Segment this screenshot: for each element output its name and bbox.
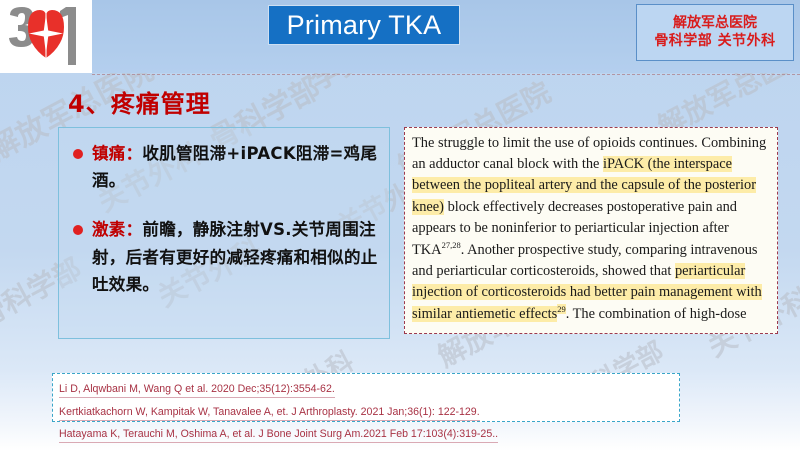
reference-item: Hatayama K, Terauchi M, Oshima A, et al.…	[59, 427, 498, 443]
list-item: 镇痛：收肌管阻滞+iPACK阻滞=鸡尾酒。	[69, 140, 379, 194]
reference-row: Li D, Alqwbani M, Wang Q et al. 2020 Dec…	[59, 377, 675, 400]
quote-segment-7: . The combination of high-dose	[566, 306, 747, 322]
bullet-dot-icon	[73, 149, 83, 159]
quotation-text: The struggle to limit the use of opioids…	[412, 133, 770, 325]
quote-segment-6: 29	[557, 304, 566, 314]
quotation-panel: The struggle to limit the use of opioids…	[404, 127, 778, 334]
reference-row: Hatayama K, Terauchi M, Oshima A, et al.…	[59, 422, 675, 445]
left-content-panel: 镇痛：收肌管阻滞+iPACK阻滞=鸡尾酒。 激素：前瞻，静脉注射VS.关节周围注…	[58, 127, 390, 339]
bullet-text: 镇痛：收肌管阻滞+iPACK阻滞=鸡尾酒。	[92, 140, 379, 194]
reference-item: Kertkiatkachorn W, Kampitak W, Tanavalee…	[59, 405, 480, 421]
slide: 解放军总医院关节外科骨科学部李勇解放军总医院骨科学部关节外科解放军总医院关节外科…	[0, 0, 800, 451]
bullet-lead-label: 镇痛：	[92, 144, 142, 163]
bullet-text: 激素：前瞻，静脉注射VS.关节周围注射，后者有更好的减轻疼痛和相似的止吐效果。	[92, 216, 379, 298]
slide-title-box: Primary TKA	[268, 5, 460, 45]
org-line-1: 解放军总医院	[673, 16, 757, 31]
page-title: Primary TKA	[287, 12, 442, 39]
reference-item: Li D, Alqwbani M, Wang Q et al. 2020 Dec…	[59, 382, 335, 398]
bullet-dot-icon	[73, 225, 83, 235]
references-box: Li D, Alqwbani M, Wang Q et al. 2020 Dec…	[52, 373, 680, 422]
301-hospital-logo-icon	[6, 5, 84, 67]
header-divider	[92, 74, 800, 75]
list-item: 激素：前瞻，静脉注射VS.关节周围注射，后者有更好的减轻疼痛和相似的止吐效果。	[69, 216, 379, 298]
logo-plate	[0, 0, 92, 73]
organization-badge: 解放军总医院 骨科学部 关节外科	[636, 4, 794, 61]
section-heading: 4、疼痛管理	[68, 84, 211, 119]
org-line-2: 骨科学部 关节外科	[654, 34, 775, 49]
bullet-lead-label: 激素：	[92, 220, 142, 239]
quote-segment-3: 27,28	[442, 240, 461, 250]
reference-row: Kertkiatkachorn W, Kampitak W, Tanavalee…	[59, 400, 675, 423]
